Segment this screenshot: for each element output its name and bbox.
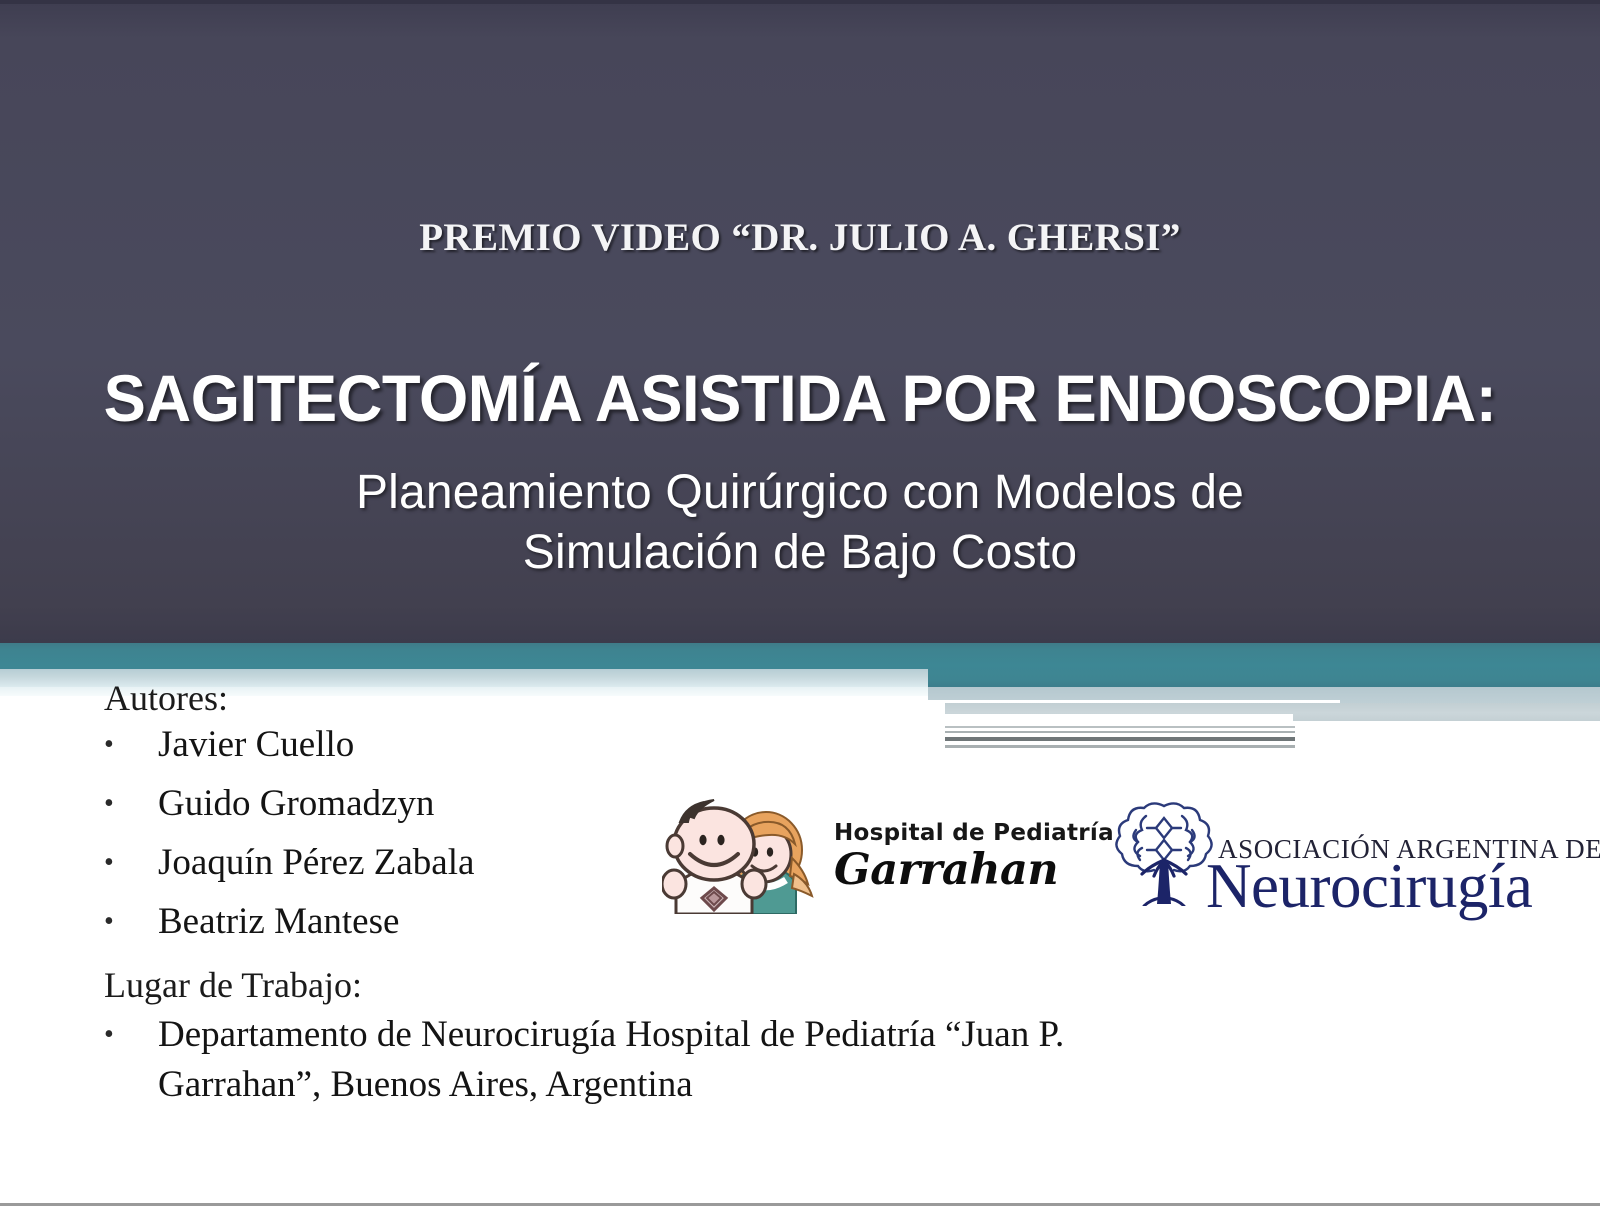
list-item: • Guido Gromadzyn [100,781,660,827]
bullet-icon: • [100,899,158,945]
decorative-step-notch-lower [945,714,1293,722]
award-kicker-text: PREMIO VIDEO “DR. JULIO A. GHERSI” [0,215,1600,260]
page-title: SAGITECTOMÍA ASISTIDA POR ENDOSCOPIA: [32,363,1568,433]
bullet-icon: • [100,722,158,768]
workplace-list: • Departamento de Neurocirugía Hospital … [100,1010,1220,1123]
workplace-affiliation: Departamento de Neurocirugía Hospital de… [158,1010,1220,1110]
presentation-slide: PREMIO VIDEO “DR. JULIO A. GHERSI” SAGIT… [0,0,1600,1206]
list-item: • Joaquín Pérez Zabala [100,840,660,886]
brain-tree-icon [1112,794,1216,906]
decorative-rule-4 [945,745,1295,748]
aanc-line-2: Neurocirugía [1206,854,1532,918]
author-name: Javier Cuello [158,722,660,768]
bullet-icon: • [100,781,158,827]
decorative-rule-3 [945,737,1295,741]
page-subtitle-line-1: Planeamiento Quirúrgico con Modelos de [0,463,1600,523]
garrahan-line-1: Hospital de Pediatría [834,820,1062,846]
list-item: • Javier Cuello [100,722,660,768]
author-name: Joaquín Pérez Zabala [158,840,660,886]
author-name: Beatriz Mantese [158,899,660,945]
author-name: Guido Gromadzyn [158,781,660,827]
bullet-icon: • [100,840,158,886]
asociacion-argentina-neurocirugia-logo: ASOCIACIÓN ARGENTINA DE Neurocirugía [1108,792,1558,914]
two-children-hugging-icon [662,792,822,914]
bullet-icon: • [100,1010,158,1060]
decorative-rule-1 [945,726,1295,728]
workplace-heading: Lugar de Trabajo: [104,965,362,1005]
list-item: • Departamento de Neurocirugía Hospital … [100,1010,1220,1110]
list-item: • Beatriz Mantese [100,899,660,945]
page-subtitle-line-2: Simulación de Bajo Costo [0,523,1600,583]
decorative-rule-2 [945,731,1295,733]
garrahan-wordmark: Hospital de Pediatría Garrahan [834,820,1062,894]
garrahan-line-2: Garrahan [834,846,1062,894]
authors-heading: Autores: [104,678,228,718]
authors-list: • Javier Cuello • Guido Gromadzyn • Joaq… [100,722,660,958]
garrahan-hospital-logo: Hospital de Pediatría Garrahan [662,792,1062,914]
page-subtitle: Planeamiento Quirúrgico con Modelos de S… [0,463,1600,583]
